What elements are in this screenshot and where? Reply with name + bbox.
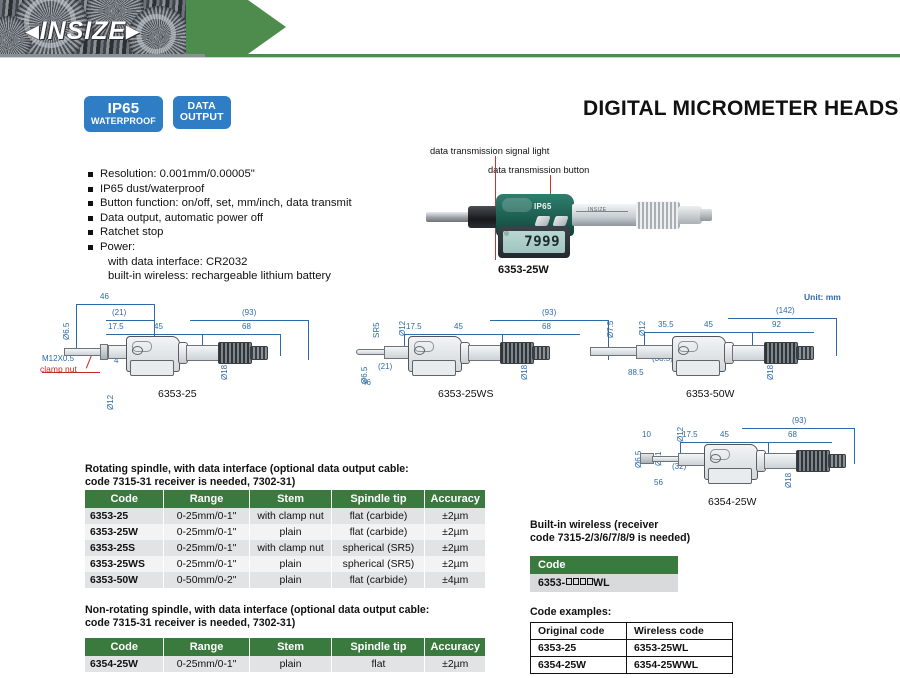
cell-spindle-tip: flat (carbide) xyxy=(332,508,425,524)
cell-range: 0-25mm/0-1" xyxy=(164,524,249,540)
photo-spindle xyxy=(426,212,472,222)
badge-ip65-waterproof: IP65 WATERPROOF xyxy=(84,96,163,132)
nonrotating-table-title: Non-rotating spindle, with data interfac… xyxy=(85,604,515,630)
callout-transmission-button: data transmission button xyxy=(488,165,589,175)
drawing-model-label: 6353-50W xyxy=(686,388,734,400)
badge-ip65-line2: WATERPROOF xyxy=(91,117,156,127)
feature-item: Button function: on/off, set, mm/inch, d… xyxy=(88,196,388,211)
cell-original-code: 6354-25W xyxy=(531,657,627,674)
feature-list: Resolution: 0.001mm/0.00005" IP65 dust/w… xyxy=(88,167,388,284)
cell-wireless-code: 6354-25WWL xyxy=(627,657,733,674)
cell-accuracy: ±2µm xyxy=(425,540,485,556)
table-row: 6353-25 6353-25WL xyxy=(531,640,733,657)
drawing-model-label: 6353-25 xyxy=(158,388,197,400)
photo-model-code: 6353-25W xyxy=(498,264,549,276)
cell-accuracy: ±2µm xyxy=(425,556,485,572)
col-original-code: Original code xyxy=(531,623,627,640)
table-row: 6354-25W 6354-25WWL xyxy=(531,657,733,674)
table-row: 6353-25WS 0-25mm/0-1" plain spherical (S… xyxy=(85,556,485,572)
code-placeholder-box xyxy=(580,578,586,585)
cell-stem: with clamp nut xyxy=(249,540,332,556)
code-examples-title: Code examples: xyxy=(530,606,611,619)
code-examples-table: Original code Wireless code 6353-25 6353… xyxy=(530,622,733,674)
dim-17-5: 17.5 xyxy=(682,430,698,439)
cell-accuracy: ±2µm xyxy=(425,656,485,672)
code-placeholder-box xyxy=(587,578,593,585)
logo-text: INSIZE xyxy=(40,17,127,45)
cell-original-code: 6353-25 xyxy=(531,640,627,657)
cell-range: 0-25mm/0-1" xyxy=(164,556,249,572)
dim-17-5: 17.5 xyxy=(406,322,422,331)
outline-micrometer-4 xyxy=(620,444,900,486)
dim-dia-12: Ø12 xyxy=(106,395,115,410)
nonrotating-spindle-table: Code Range Stem Spindle tip Accuracy 635… xyxy=(85,638,485,672)
dim-45: 45 xyxy=(720,430,729,439)
dim-142: (142) xyxy=(776,306,795,315)
table-row: 6353-25W 0-25mm/0-1" plain flat (carbide… xyxy=(85,524,485,540)
cell-accuracy: ±2µm xyxy=(425,524,485,540)
wireless-code-row: 6353-WL xyxy=(530,574,678,592)
cell-stem: plain xyxy=(249,656,332,672)
table-row: 6353-25S 0-25mm/0-1" with clamp nut sphe… xyxy=(85,540,485,556)
photo-signal-light xyxy=(504,231,509,236)
cell-accuracy: ±4µm xyxy=(425,572,485,588)
photo-thimble xyxy=(636,201,680,229)
col-stem: Stem xyxy=(249,490,332,508)
wireless-code-suffix: WL xyxy=(593,577,609,589)
col-spindle-tip: Spindle tip xyxy=(332,638,425,656)
page-header: ◂INSIZE▸ xyxy=(0,0,900,58)
insize-logo: ◂INSIZE▸ xyxy=(26,16,140,46)
cell-spindle-tip: flat (carbide) xyxy=(332,524,425,540)
badge-ip65-line1: IP65 xyxy=(91,101,156,117)
callout-signal-light: data transmission signal light xyxy=(430,146,549,156)
cell-spindle-tip: spherical (SR5) xyxy=(332,540,425,556)
rotating-title-line1: Rotating spindle, with data interface (o… xyxy=(85,463,505,476)
col-accuracy: Accuracy xyxy=(425,490,485,508)
table-header-row: Code Range Stem Spindle tip Accuracy xyxy=(85,490,485,508)
unit-note: Unit: mm xyxy=(804,292,841,302)
cell-code: 6353-25 xyxy=(85,508,164,524)
feature-subitem: with data interface: CR2032 xyxy=(88,255,388,270)
cell-code: 6353-25W xyxy=(85,524,164,540)
dim-93: (93) xyxy=(792,416,806,425)
rotating-spindle-table: Code Range Stem Spindle tip Accuracy 635… xyxy=(85,490,485,588)
photo-ratchet-stop xyxy=(678,206,702,224)
nonrotating-title-line2: code 7315-31 receiver is needed, 7302-31… xyxy=(85,617,515,630)
nonrotating-title-line1: Non-rotating spindle, with data interfac… xyxy=(85,604,515,617)
cell-spindle-tip: flat xyxy=(332,656,425,672)
drawing-model-label: 6354-25W xyxy=(708,496,756,508)
feature-item: Data output, automatic power off xyxy=(88,211,388,226)
cell-wireless-code: 6353-25WL xyxy=(627,640,733,657)
cell-stem: plain xyxy=(249,572,332,588)
dim-68: 68 xyxy=(242,322,251,331)
rotating-table-title: Rotating spindle, with data interface (o… xyxy=(85,463,505,489)
col-wireless-code: Wireless code xyxy=(627,623,733,640)
dim-93: (93) xyxy=(542,308,556,317)
dim-35-5: 35.5 xyxy=(658,320,674,329)
dim-46: 46 xyxy=(100,292,109,301)
feature-subitem: built-in wireless: rechargeable lithium … xyxy=(88,269,388,284)
col-range: Range xyxy=(164,490,249,508)
badge-data-line2: OUTPUT xyxy=(180,112,224,123)
photo-lcd-housing: 7999 xyxy=(498,226,570,258)
cell-stem: with clamp nut xyxy=(249,508,332,524)
dim-45: 45 xyxy=(454,322,463,331)
cell-range: 0-25mm/0-1" xyxy=(164,508,249,524)
wireless-title-line1: Built-in wireless (receiver xyxy=(530,519,780,532)
col-stem: Stem xyxy=(249,638,332,656)
page-title: DIGITAL MICROMETER HEADS xyxy=(583,97,899,121)
cell-spindle-tip: flat (carbide) xyxy=(332,572,425,588)
dim-68: 68 xyxy=(788,430,797,439)
dim-45: 45 xyxy=(704,320,713,329)
photo-brand-text: INSIZE xyxy=(588,207,607,213)
micrometer-head-photo: IP65 7999 INSIZE xyxy=(426,182,714,260)
dim-92: 92 xyxy=(772,320,781,329)
dim-46: 46 xyxy=(362,378,371,387)
cell-stem: plain xyxy=(249,524,332,540)
feature-item: IP65 dust/waterproof xyxy=(88,182,388,197)
cell-accuracy: ±2µm xyxy=(425,508,485,524)
drawing-6353-50w: Unit: mm Ø12 35.5 45 (142) 92 (38.5) 88.… xyxy=(600,292,900,410)
badge-data-output: DATA OUTPUT xyxy=(173,96,231,129)
table-header-row: Original code Wireless code xyxy=(531,623,733,640)
header-rule-thin xyxy=(0,57,900,58)
product-photo-block: data transmission signal light data tran… xyxy=(420,146,720,276)
wireless-code-prefix: 6353- xyxy=(538,577,565,589)
cell-spindle-tip: spherical (SR5) xyxy=(332,556,425,572)
photo-lcd-value: 7999 xyxy=(524,234,560,250)
table-header-row: Code Range Stem Spindle tip Accuracy xyxy=(85,638,485,656)
dim-10: 10 xyxy=(642,430,651,439)
dim-45: 45 xyxy=(154,322,163,331)
photo-lcd-screen: 7999 xyxy=(503,231,565,253)
feature-item: Power: xyxy=(88,240,388,255)
drawing-6354-25w: 10 Ø12 17.5 45 (93) 68 Ø6.5 Ø11 (32) 56 … xyxy=(620,408,900,518)
header-green-arrow xyxy=(186,0,286,54)
outline-micrometer-2 xyxy=(320,336,610,378)
cell-code: 6353-25WS xyxy=(85,556,164,572)
col-range: Range xyxy=(164,638,249,656)
table-row: 6354-25W 0-25mm/0-1" plain flat ±2µm xyxy=(85,656,485,672)
dim-93: (93) xyxy=(242,308,256,317)
drawing-6353-25: 46 (21) 17.5 45 (93) 68 Ø6.5 Ø12 Ø18 M12… xyxy=(20,292,310,410)
outline-micrometer-1 xyxy=(20,336,310,378)
dim-68: 68 xyxy=(542,322,551,331)
wireless-code-table: Code 6353-WL xyxy=(530,556,678,592)
feature-badges: IP65 WATERPROOF DATA OUTPUT xyxy=(84,96,231,132)
cell-range: 0-25mm/0-1" xyxy=(164,656,249,672)
photo-ip65-mark: IP65 xyxy=(534,202,552,211)
cell-range: 0-50mm/0-2" xyxy=(164,572,249,588)
photo-end-cap xyxy=(700,209,712,221)
feature-item: Ratchet stop xyxy=(88,225,388,240)
code-placeholder-box xyxy=(566,578,572,585)
col-code: Code xyxy=(85,490,164,508)
dim-21: (21) xyxy=(112,308,126,317)
cell-code: 6353-50W xyxy=(85,572,164,588)
wireless-col-code: Code xyxy=(530,556,678,574)
dim-dia-12: Ø12 xyxy=(638,321,647,336)
table-row: 6353-25 0-25mm/0-1" with clamp nut flat … xyxy=(85,508,485,524)
cell-range: 0-25mm/0-1" xyxy=(164,540,249,556)
code-placeholder-box xyxy=(573,578,579,585)
drawing-6353-25ws: SR5 Ø12 17.5 45 (93) 68 Ø6.5 (21) 46 Ø18… xyxy=(320,292,610,410)
cell-stem: plain xyxy=(249,556,332,572)
col-code: Code xyxy=(85,638,164,656)
col-spindle-tip: Spindle tip xyxy=(332,490,425,508)
dim-17-5: 17.5 xyxy=(108,322,124,331)
outline-micrometer-3 xyxy=(600,336,900,378)
wireless-title-line2: code 7315-2/3/6/7/8/9 is needed) xyxy=(530,532,780,545)
table-row: 6353-50W 0-50mm/0-2" plain flat (carbide… xyxy=(85,572,485,588)
wireless-title: Built-in wireless (receiver code 7315-2/… xyxy=(530,519,780,545)
cell-code: 6354-25W xyxy=(85,656,164,672)
drawing-model-label: 6353-25WS xyxy=(438,388,493,400)
feature-item: Resolution: 0.001mm/0.00005" xyxy=(88,167,388,182)
rotating-title-line2: code 7315-31 receiver is needed, 7302-31… xyxy=(85,476,505,489)
cell-code: 6353-25S xyxy=(85,540,164,556)
col-accuracy: Accuracy xyxy=(425,638,485,656)
